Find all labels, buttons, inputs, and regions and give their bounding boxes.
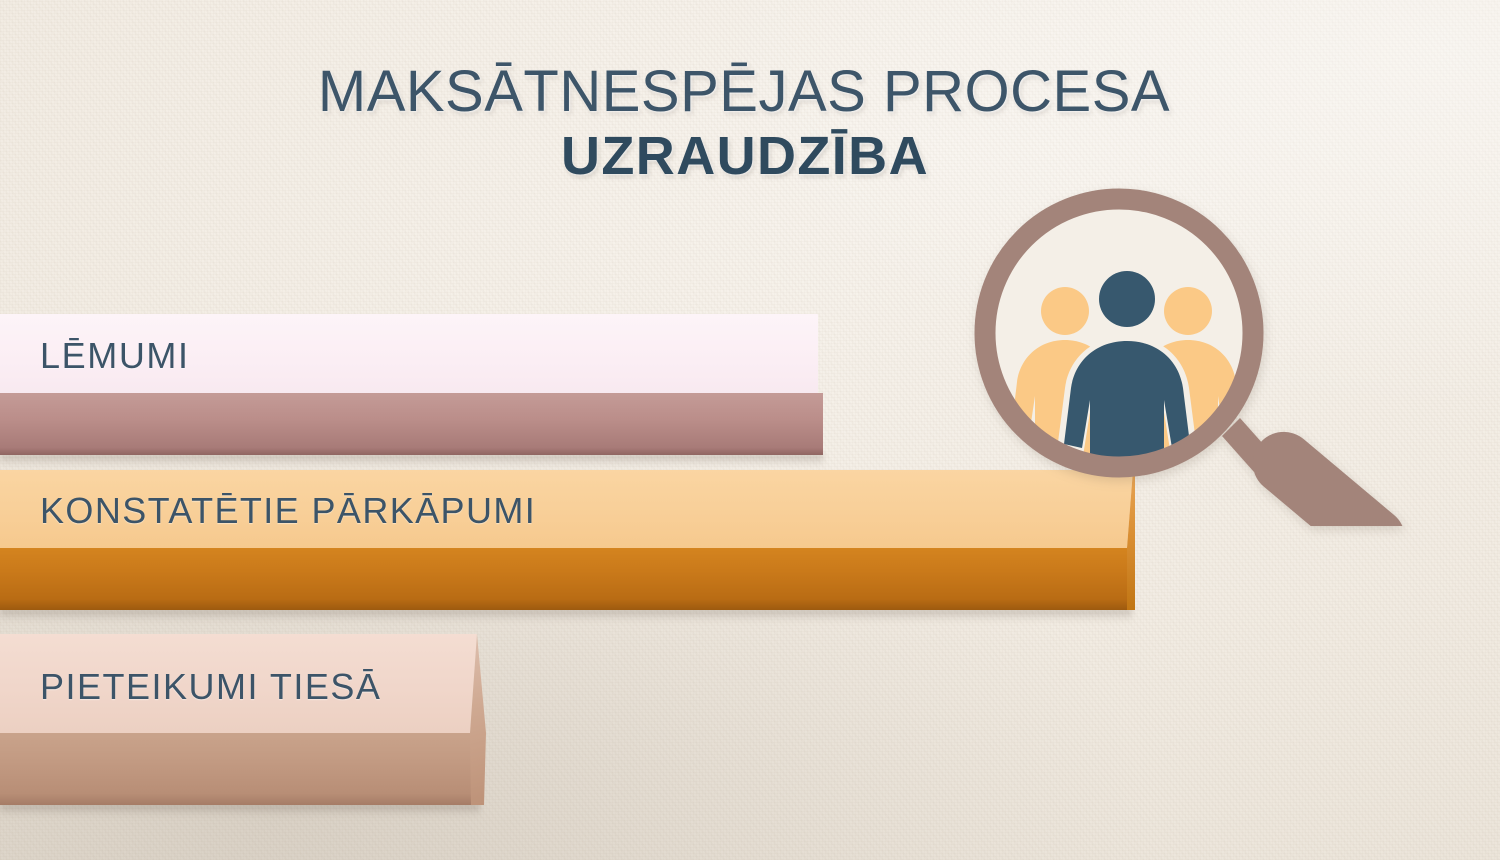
bar-applications-label: PIETEIKUMI TIESĀ: [40, 666, 381, 708]
title-line-primary: MAKSĀTNESPĒJAS PROCESA: [0, 60, 1494, 124]
bar-decisions-front-face: [0, 393, 823, 455]
bar-decisions-label: LĒMUMI: [40, 335, 190, 377]
magnifier-with-people-icon: [972, 186, 1452, 526]
bar-decisions[interactable]: LĒMUMI: [0, 314, 826, 462]
bar-applications-shadow: [0, 804, 480, 817]
page-title: MAKSĀTNESPĒJAS PROCESA UZRAUDZĪBA: [0, 60, 1500, 186]
bar-violations-front-face: [0, 548, 1128, 610]
bar-decisions-shadow: [0, 454, 823, 467]
bar-violations-label: KONSTATĒTIE PĀRKĀPUMI: [40, 490, 536, 532]
bar-violations-shadow: [0, 609, 1132, 622]
magnifier-handle-icon: [1222, 418, 1418, 526]
bar-applications[interactable]: PIETEIKUMI TIESĀ: [0, 634, 492, 814]
slide-canvas: MAKSĀTNESPĒJAS PROCESA UZRAUDZĪBA LĒMUMI…: [0, 0, 1500, 860]
title-line-secondary: UZRAUDZĪBA: [0, 126, 1495, 186]
bar-violations[interactable]: KONSTATĒTIE PĀRKĀPUMI: [0, 470, 1140, 620]
bar-applications-front-face: [0, 733, 471, 805]
